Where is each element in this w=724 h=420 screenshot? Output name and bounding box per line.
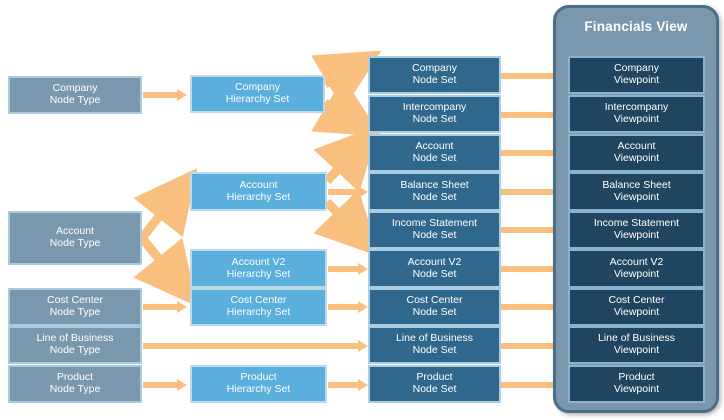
- node-set-intercompany-line2: Node Set: [403, 114, 467, 126]
- hierarchy-set-product-line2: Hierarchy Set: [227, 384, 291, 396]
- hierarchy-set-company-line2: Hierarchy Set: [226, 94, 290, 106]
- node-set-product-line2: Node Set: [413, 384, 457, 396]
- connector-hs-company-to-ns-company: [325, 68, 352, 84]
- node-type-account[interactable]: AccountNode Type: [8, 211, 142, 265]
- node-set-account[interactable]: AccountNode Set: [368, 134, 501, 172]
- node-set-account-line2: Node Set: [413, 153, 457, 165]
- viewpoint-account-v2-line2: Viewpoint: [610, 269, 664, 281]
- node-set-line-of-business[interactable]: Line of BusinessNode Set: [368, 326, 501, 364]
- node-set-line-of-business-line2: Node Set: [396, 345, 473, 357]
- connector-hs-account-to-ns-account: [327, 150, 356, 181]
- viewpoint-balance-sheet-line2: Viewpoint: [602, 192, 670, 204]
- node-set-balance-sheet-line2: Node Set: [400, 192, 468, 204]
- node-type-line-of-business-line2: Node Type: [36, 345, 113, 357]
- node-type-line-of-business[interactable]: Line of BusinessNode Type: [8, 326, 142, 364]
- node-set-income-statement-line2: Node Set: [392, 230, 477, 242]
- arrow-nt-cost-center-to-hs-cost-center: [143, 301, 187, 313]
- node-type-product-line2: Node Type: [50, 384, 101, 396]
- hierarchy-set-account-v2[interactable]: Account V2Hierarchy Set: [190, 249, 327, 288]
- node-set-product[interactable]: ProductNode Set: [368, 365, 501, 403]
- viewpoint-account-v2[interactable]: Account V2Viewpoint: [568, 249, 705, 288]
- viewpoint-income-statement[interactable]: Income StatementViewpoint: [568, 211, 705, 249]
- connector-hs-account-to-ns-income: [327, 202, 356, 232]
- viewpoint-company-line2: Viewpoint: [614, 75, 659, 87]
- node-type-cost-center[interactable]: Cost CenterNode Type: [8, 288, 142, 326]
- node-set-account-v2[interactable]: Account V2Node Set: [368, 249, 501, 288]
- viewpoint-income-statement-line2: Viewpoint: [594, 230, 679, 242]
- arrow-nt-company-to-hs-company: [143, 89, 187, 101]
- arrow-hs-account-v2-to-ns-account-v2: [328, 263, 368, 275]
- hierarchy-set-account-v2-line2: Hierarchy Set: [227, 269, 291, 281]
- viewpoint-product-line2: Viewpoint: [614, 384, 659, 396]
- viewpoint-cost-center[interactable]: Cost CenterViewpoint: [568, 288, 705, 326]
- viewpoint-cost-center-line2: Viewpoint: [608, 307, 664, 319]
- arrow-hs-cost-center-to-ns-cost-center: [328, 301, 368, 313]
- hierarchy-set-product[interactable]: ProductHierarchy Set: [190, 365, 327, 403]
- hierarchy-set-account-v2-line1: Account V2: [227, 257, 291, 269]
- node-type-account-line2: Node Type: [50, 238, 101, 250]
- arrow-hs-product-to-ns-product: [328, 379, 368, 391]
- node-set-cost-center[interactable]: Cost CenterNode Set: [368, 288, 501, 326]
- node-set-account-v2-line1: Account V2: [408, 257, 462, 269]
- node-type-company-line2: Node Type: [50, 95, 101, 107]
- node-type-product[interactable]: ProductNode Type: [8, 365, 142, 403]
- viewpoint-balance-sheet-line1: Balance Sheet: [602, 180, 670, 192]
- diagram-canvas: Financials View CompanyNode Type Account…: [0, 0, 724, 420]
- node-set-company[interactable]: CompanyNode Set: [368, 56, 501, 94]
- viewpoint-balance-sheet[interactable]: Balance SheetViewpoint: [568, 172, 705, 211]
- node-set-balance-sheet[interactable]: Balance SheetNode Set: [368, 172, 501, 211]
- viewpoint-account-v2-line1: Account V2: [610, 257, 664, 269]
- hierarchy-set-account-line2: Hierarchy Set: [227, 192, 291, 204]
- connector-nt-account-to-hs-account-v2: [142, 238, 176, 280]
- node-set-company-line2: Node Set: [412, 75, 457, 87]
- arrow-hs-account-to-ns-balance: [328, 186, 368, 198]
- viewpoint-line-of-business-line2: Viewpoint: [598, 345, 675, 357]
- node-set-account-v2-line2: Node Set: [408, 269, 462, 281]
- node-set-cost-center-line2: Node Set: [406, 307, 462, 319]
- hierarchy-set-account[interactable]: AccountHierarchy Set: [190, 172, 327, 211]
- viewpoint-line-of-business[interactable]: Line of BusinessViewpoint: [568, 326, 705, 364]
- viewpoint-account[interactable]: AccountViewpoint: [568, 134, 705, 172]
- arrow-nt-product-to-hs-product: [143, 379, 187, 391]
- connector-hs-company-to-ns-intercompany: [325, 103, 352, 119]
- connector-nt-account-to-hs-account: [142, 195, 176, 238]
- viewpoint-account-line2: Viewpoint: [614, 153, 659, 165]
- hierarchy-set-cost-center-line2: Hierarchy Set: [227, 307, 291, 319]
- viewpoint-product[interactable]: ProductViewpoint: [568, 365, 705, 403]
- viewpoint-intercompany[interactable]: IntercompanyViewpoint: [568, 95, 705, 133]
- panel-title: Financials View: [556, 19, 716, 34]
- hierarchy-set-account-line1: Account: [227, 180, 291, 192]
- hierarchy-set-cost-center[interactable]: Cost CenterHierarchy Set: [190, 288, 327, 326]
- arrow-nt-lob-to-ns-lob: [143, 340, 368, 352]
- viewpoint-company[interactable]: CompanyViewpoint: [568, 56, 705, 94]
- node-type-cost-center-line2: Node Type: [47, 307, 103, 319]
- node-set-intercompany[interactable]: IntercompanyNode Set: [368, 95, 501, 133]
- node-type-company[interactable]: CompanyNode Type: [8, 76, 142, 114]
- hierarchy-set-company[interactable]: CompanyHierarchy Set: [190, 75, 325, 113]
- node-set-balance-sheet-line1: Balance Sheet: [400, 180, 468, 192]
- viewpoint-intercompany-line2: Viewpoint: [605, 114, 669, 126]
- node-set-income-statement[interactable]: Income StatementNode Set: [368, 211, 501, 249]
